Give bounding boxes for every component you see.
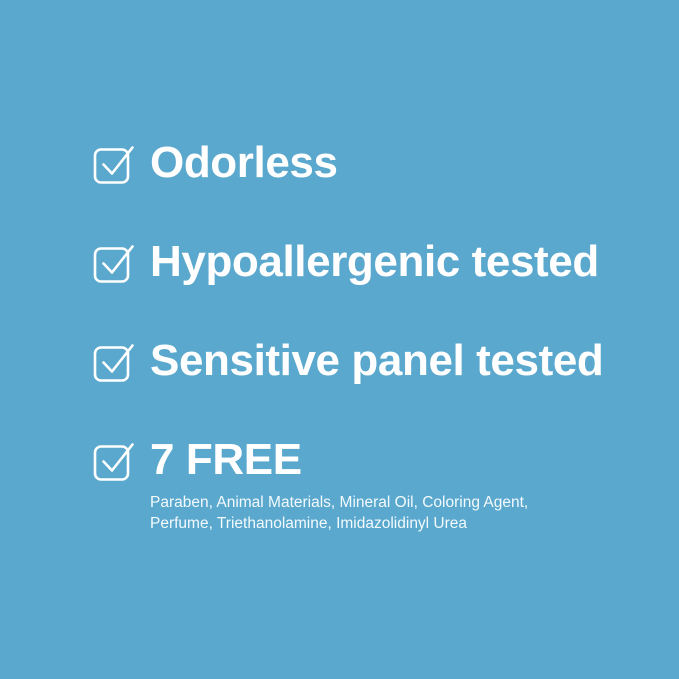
feature-body: Odorless xyxy=(150,140,338,186)
feature-body: 7 FREE Paraben, Animal Materials, Minera… xyxy=(150,437,580,534)
feature-item-hypoallergenic-tested: Hypoallergenic tested xyxy=(92,239,632,286)
checkbox-checked-icon xyxy=(92,440,136,484)
feature-label: Odorless xyxy=(150,140,338,186)
feature-list: Odorless Hypoallergenic tested xyxy=(92,140,632,534)
feature-item-7-free: 7 FREE Paraben, Animal Materials, Minera… xyxy=(92,437,632,534)
feature-item-odorless: Odorless xyxy=(92,140,632,187)
checkbox-checked-icon xyxy=(92,341,136,385)
feature-item-sensitive-panel-tested: Sensitive panel tested xyxy=(92,338,632,385)
feature-label: Sensitive panel tested xyxy=(150,338,603,384)
feature-label: Hypoallergenic tested xyxy=(150,239,599,285)
checkbox-checked-icon xyxy=(92,143,136,187)
product-feature-infographic: Odorless Hypoallergenic tested xyxy=(0,0,679,679)
feature-body: Sensitive panel tested xyxy=(150,338,603,384)
checkbox-checked-icon xyxy=(92,242,136,286)
feature-label: 7 FREE xyxy=(150,437,580,483)
feature-body: Hypoallergenic tested xyxy=(150,239,599,285)
feature-note-free-from-ingredients: Paraben, Animal Materials, Mineral Oil, … xyxy=(150,492,580,534)
